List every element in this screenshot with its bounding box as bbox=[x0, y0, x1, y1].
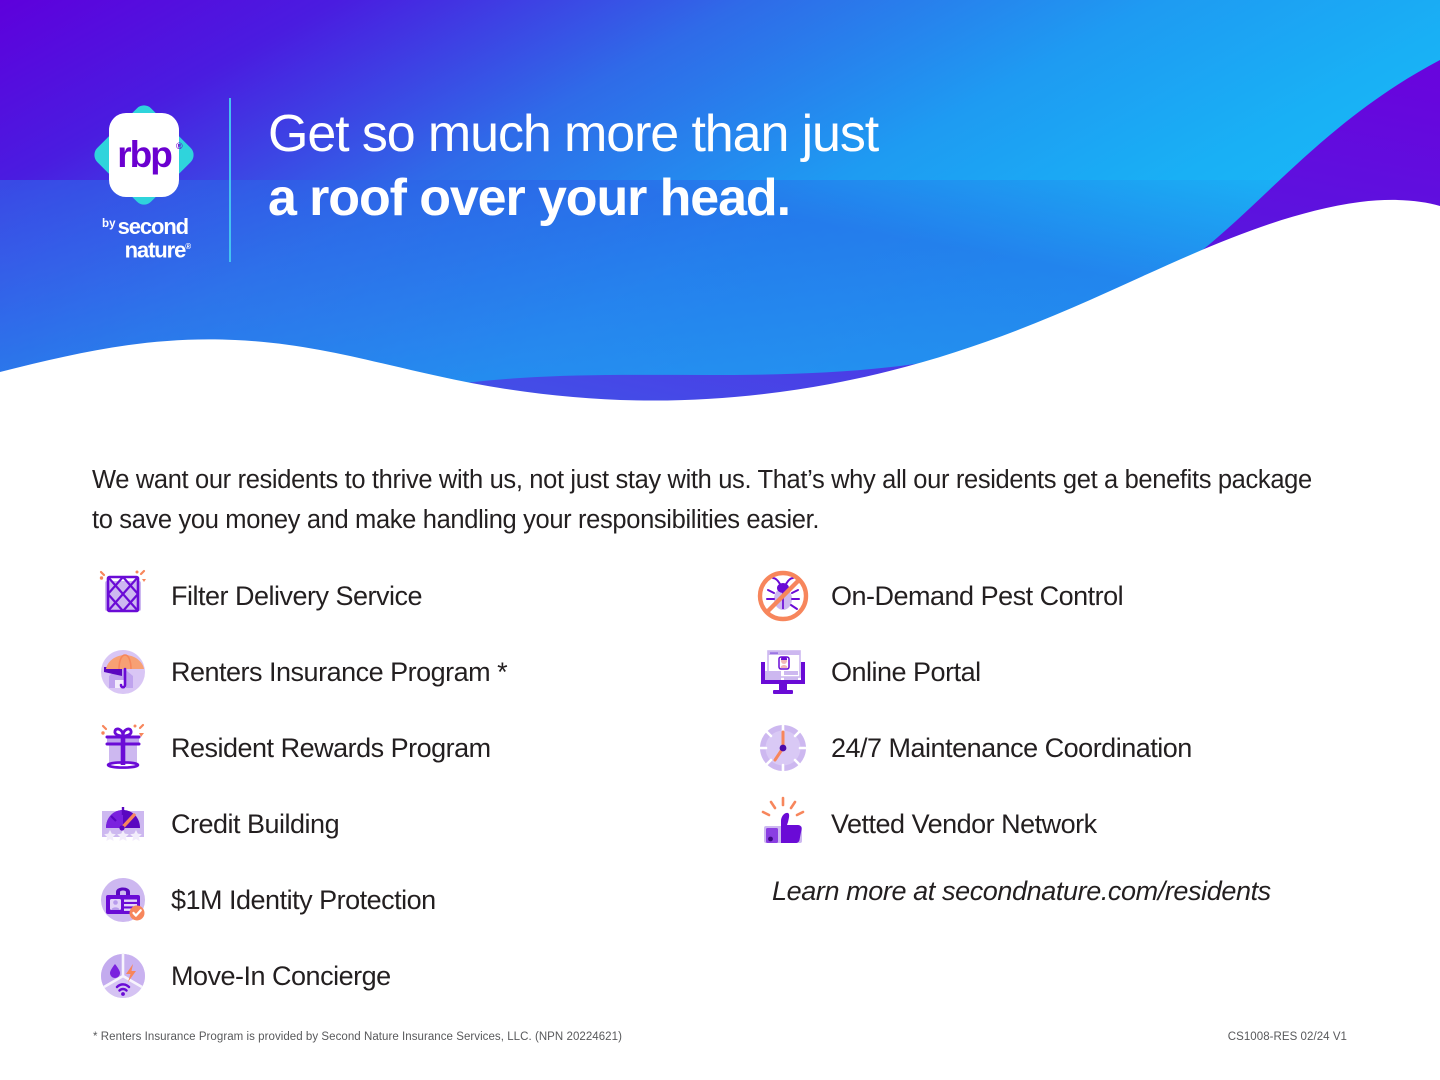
svg-text:®: ® bbox=[176, 141, 183, 151]
no-pest-icon bbox=[752, 565, 814, 627]
benefit-row-online-portal: Online Portal bbox=[752, 634, 1392, 710]
credit-score-gauge-icon bbox=[92, 793, 154, 855]
footer-disclaimer: * Renters Insurance Program is provided … bbox=[93, 1031, 622, 1043]
benefit-label: $1M Identity Protection bbox=[171, 885, 436, 916]
benefit-label: Move-In Concierge bbox=[171, 961, 391, 992]
monitor-portal-icon bbox=[752, 641, 814, 703]
thumbs-up-icon bbox=[752, 793, 814, 855]
benefit-row-resident-rewards-program: Resident Rewards Program bbox=[92, 710, 732, 786]
intro-paragraph: We want our residents to thrive with us,… bbox=[92, 460, 1322, 540]
headline-line-1: Get so much more than just bbox=[268, 103, 1168, 165]
benefit-label: Online Portal bbox=[831, 657, 981, 688]
benefit-label: Renters Insurance Program * bbox=[171, 657, 507, 688]
air-filter-icon bbox=[92, 565, 154, 627]
benefit-row-filter-delivery-service: Filter Delivery Service bbox=[92, 558, 732, 634]
utilities-circle-icon bbox=[92, 945, 154, 1007]
by-label: by bbox=[102, 219, 116, 231]
benefit-row-vetted-vendor-network: Vetted Vendor Network bbox=[752, 786, 1392, 862]
benefit-label: Resident Rewards Program bbox=[171, 733, 491, 764]
benefit-row-pest-control: On-Demand Pest Control bbox=[752, 558, 1392, 634]
benefit-label: 24/7 Maintenance Coordination bbox=[831, 733, 1192, 764]
learn-more-text: Learn more at secondnature.com/residents bbox=[772, 876, 1271, 907]
clock-icon bbox=[752, 717, 814, 779]
umbrella-house-icon bbox=[92, 641, 154, 703]
headline-line-2: a roof over your head. bbox=[268, 165, 1168, 231]
rbp-logo-mark: rbp ® bbox=[88, 95, 200, 213]
gift-box-icon bbox=[92, 717, 154, 779]
brand-lockup: rbp ® by second nature® Get so much more… bbox=[88, 95, 848, 270]
rbp-wordmark: rbp bbox=[117, 134, 172, 175]
id-badge-shield-icon bbox=[92, 869, 154, 931]
footer-doc-code: CS1008-RES 02/24 V1 bbox=[1228, 1031, 1347, 1043]
benefit-label: Filter Delivery Service bbox=[171, 581, 422, 612]
company-name-line1: second bbox=[118, 217, 190, 237]
benefits-column-left: Filter Delivery Service Renters Insuranc… bbox=[92, 558, 732, 1014]
hero-headline: Get so much more than just a roof over y… bbox=[268, 103, 1168, 231]
benefit-row-identity-protection: $1M Identity Protection bbox=[92, 862, 732, 938]
benefit-label: On-Demand Pest Control bbox=[831, 581, 1123, 612]
company-name-line2: nature bbox=[125, 237, 186, 262]
by-second-nature-lockup: by second nature® bbox=[86, 217, 206, 260]
benefit-label: Credit Building bbox=[171, 809, 339, 840]
benefit-row-renters-insurance-program: Renters Insurance Program * bbox=[92, 634, 732, 710]
benefits-column-right: On-Demand Pest Control Online bbox=[752, 558, 1392, 862]
benefit-row-move-in-concierge: Move-In Concierge bbox=[92, 938, 732, 1014]
benefit-label: Vetted Vendor Network bbox=[831, 809, 1097, 840]
benefit-row-credit-building: Credit Building bbox=[92, 786, 732, 862]
registered-mark: ® bbox=[185, 242, 190, 251]
vertical-divider bbox=[229, 98, 231, 262]
benefit-row-maintenance-coordination: 24/7 Maintenance Coordination bbox=[752, 710, 1392, 786]
